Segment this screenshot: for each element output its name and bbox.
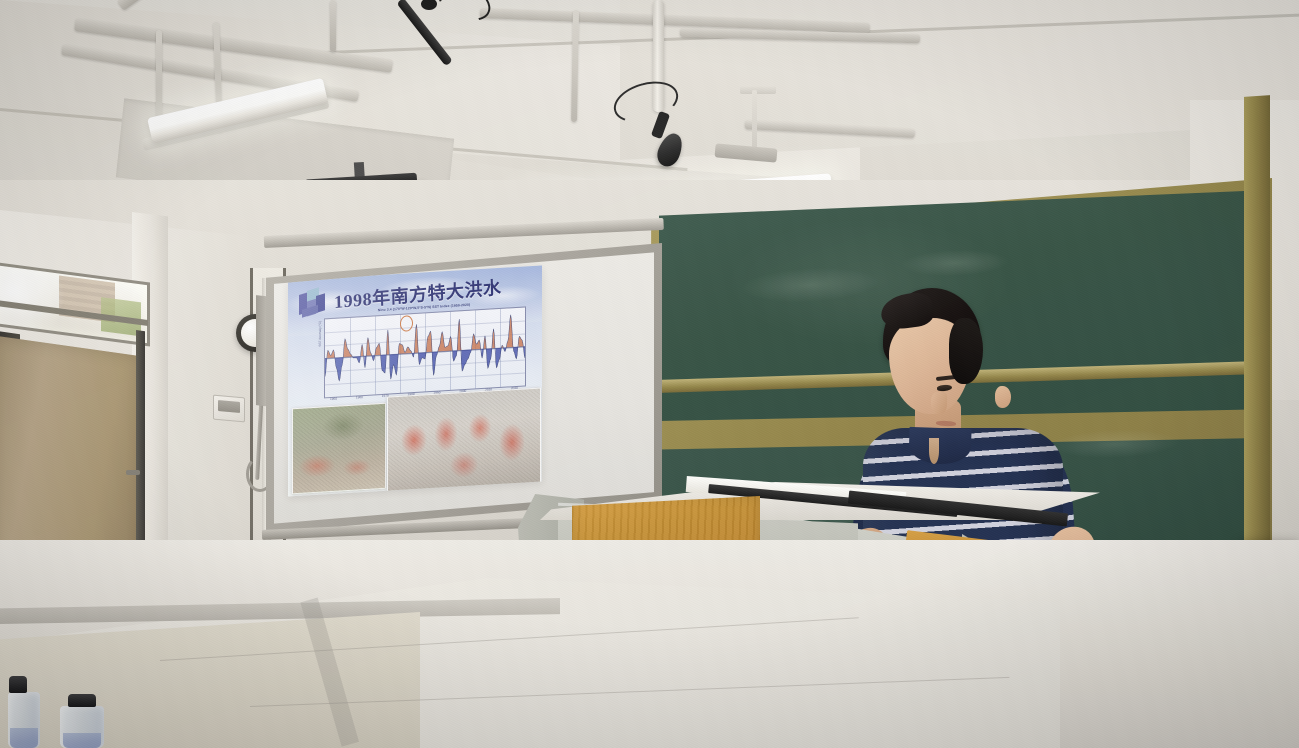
lecture-hall-scene: 1998年南方特大洪水 Nino 3.4 (170ºW-120ºW,5ºS-5º…: [0, 0, 1299, 748]
presenter-collar-opening: [929, 438, 939, 464]
sst-anomaly-plot: [325, 307, 525, 397]
ceiling-bracket-rod: [752, 90, 757, 152]
ceiling-hanger-rod-4: [330, 0, 336, 52]
xtick-1: 1960: [356, 395, 363, 399]
window-daylight-glow: [0, 265, 77, 336]
chart-y-axis-label: SST Anomaly (ºC): [318, 321, 322, 347]
presentation-slide: 1998年南方特大洪水 Nino 3.4 (170ºW-120ºW,5ºS-5º…: [288, 265, 542, 496]
water-bottle-2[interactable]: [60, 694, 104, 748]
institute-logo: [297, 288, 327, 320]
presenter-ear: [995, 386, 1011, 408]
ceiling-bracket-plate: [740, 86, 776, 94]
enso-sst-chart: [324, 306, 526, 398]
flood-photo-left: [292, 403, 386, 495]
wall-control-panel[interactable]: [213, 395, 245, 423]
presenter-hair-side: [949, 318, 983, 384]
door-handle[interactable]: [126, 470, 140, 475]
door-frame: [136, 330, 145, 567]
bottle-cap-2: [68, 694, 96, 707]
xtick-0: 1950: [330, 397, 337, 401]
control-panel-display: [218, 400, 240, 413]
water-bottle-1[interactable]: [8, 676, 40, 748]
presenter-nose: [931, 392, 947, 414]
presenter-eye: [937, 384, 952, 391]
bottle-cap-1: [9, 676, 27, 693]
